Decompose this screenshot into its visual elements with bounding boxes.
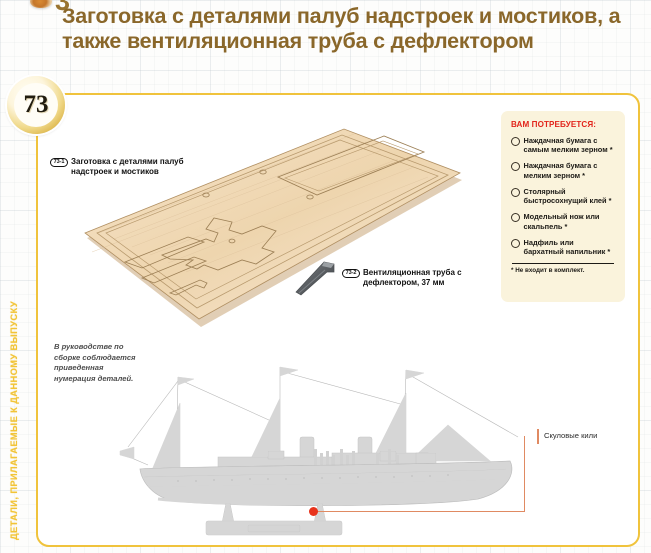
ship-model-svg [118,365,538,540]
materials-item-label: Надфиль или бархатный напильник * [524,238,617,257]
part-label-73-1: 73-1 Заготовка с деталями палуб надстрое… [50,157,200,178]
vent-pipe-photo [291,259,341,299]
content-card: 73-1 Заготовка с деталями палуб надстрое… [36,93,640,547]
materials-item-label: Наждачная бумага с самым мелким зерном * [524,136,617,155]
sidebar-vertical-label: ДЕТАЛИ, ПРИЛАГАЕМЫЕ К ДАННОМУ ВЫПУСКУ [9,297,19,540]
materials-item[interactable]: Наждачная бумага с мелким зерном * [511,161,616,180]
ship-model-photo [118,365,538,540]
materials-item-label: Модельный нож или скальпель * [524,212,617,231]
materials-item[interactable]: Столярный быстросохнущий клей * [511,187,616,206]
materials-divider [512,263,614,264]
issue-number-badge: 73 [7,76,65,134]
checkbox-circle-icon[interactable] [511,239,520,248]
issue-number-value: 73 [14,83,58,127]
callout-leader-vertical [524,436,525,512]
materials-item[interactable]: Модельный нож или скальпель * [511,212,616,231]
materials-item-label: Столярный быстросохнущий клей * [524,187,617,206]
materials-panel: ВАМ ПОТРЕБУЕТСЯ: Наждачная бумага с самы… [501,111,625,302]
part-name-73-2: Вентиляционная труба с дефлектором, 37 м… [363,268,502,289]
materials-item-label: Наждачная бумага с мелким зерном * [524,161,617,180]
wooden-sheet-photo [66,123,476,338]
checkbox-circle-icon[interactable] [511,188,520,197]
callout-label: Скуловые кили [544,431,597,440]
sidebar-vertical-tab: ДЕТАЛИ, ПРИЛАГАЕМЫЕ К ДАННОМУ ВЫПУСКУ [0,110,28,540]
materials-item[interactable]: Надфиль или бархатный напильник * [511,238,616,257]
callout-leader-bar [537,429,539,444]
part-label-73-2: 73-2 Вентиляционная труба с дефлектором,… [342,268,502,289]
callout-leader-horizontal [316,511,525,512]
checkbox-circle-icon[interactable] [511,137,520,146]
materials-item[interactable]: Наждачная бумага с самым мелким зерном * [511,136,616,155]
part-tag-73-2: 73-2 [342,269,360,278]
callout-marker-dot [309,507,318,516]
materials-footnote: * Не входит в комплект. [511,267,616,274]
checkbox-circle-icon[interactable] [511,213,520,222]
materials-title: ВАМ ПОТРЕБУЕТСЯ: [511,120,616,129]
part-name-73-1: Заготовка с деталями палуб надстроек и м… [71,157,200,178]
wooden-sheet-svg [66,123,476,338]
part-tag-73-1: 73-1 [50,158,68,167]
checkbox-circle-icon[interactable] [511,162,520,171]
page-title: Заготовка с деталями палуб надстроек и м… [62,4,637,53]
